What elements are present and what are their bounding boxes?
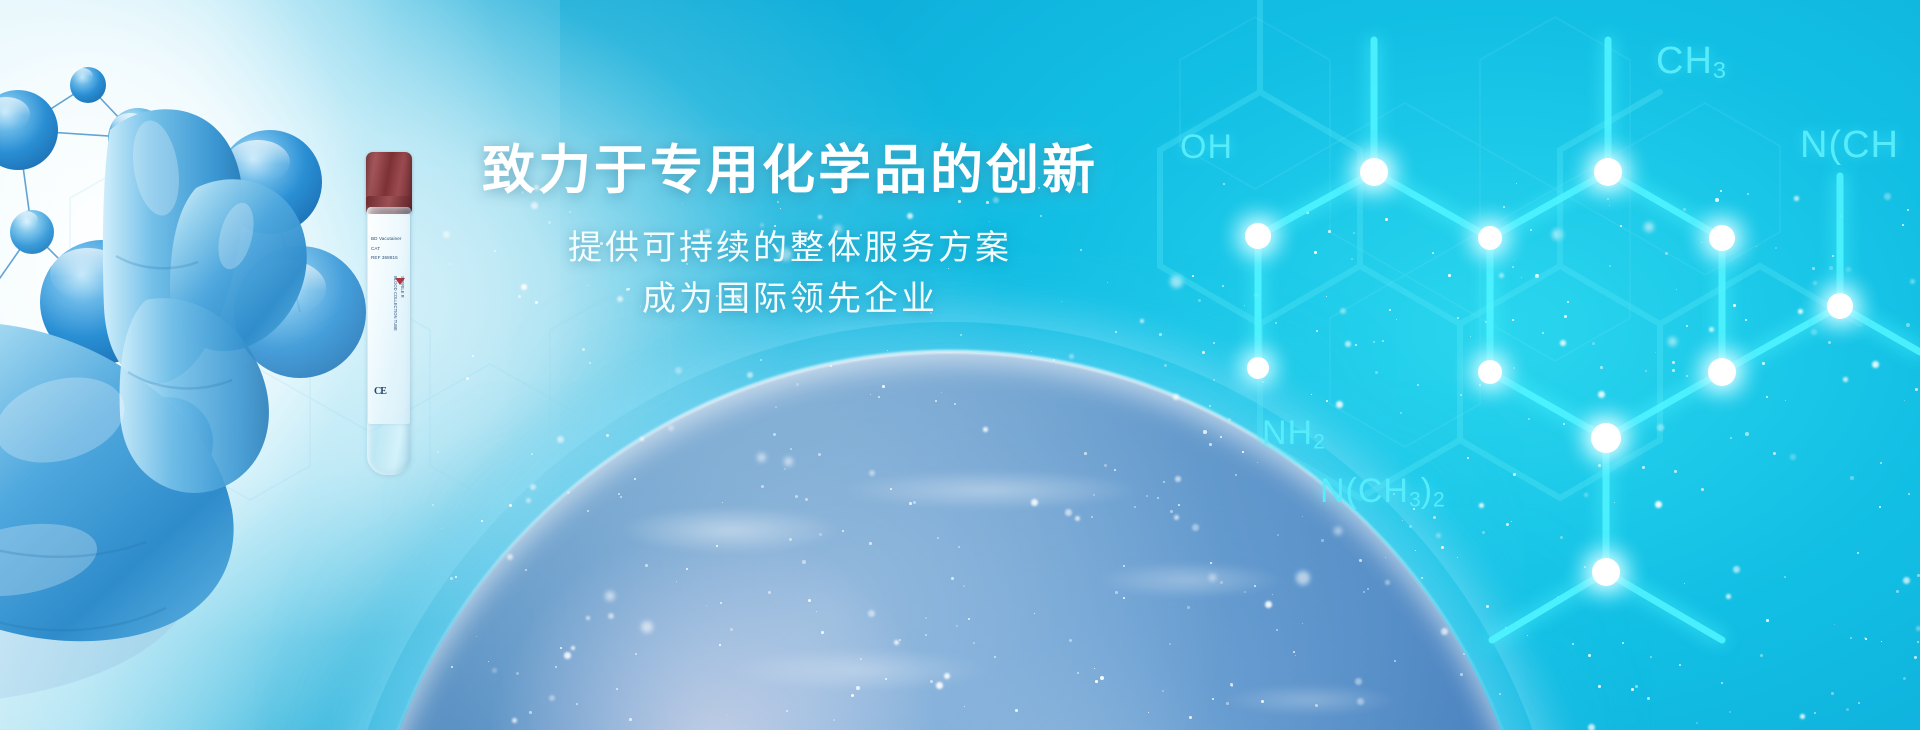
chem-label-nch-top: N(CH bbox=[1800, 124, 1899, 167]
chem-label-nh2: NH2 bbox=[1262, 414, 1325, 455]
chem-label-ch3: CH3 bbox=[1656, 40, 1726, 84]
subtitle-line-2: 成为国际领先企业 bbox=[440, 274, 1140, 326]
chem-label-oh: OH bbox=[1180, 128, 1233, 167]
banner-subtitle: 提供可持续的整体服务方案 成为国际领先企业 bbox=[440, 223, 1140, 326]
tube-side-text-1: BLOOD COLLECTION TUBE bbox=[393, 276, 398, 331]
banner-copy: 致力于专用化学品的创新 提供可持续的整体服务方案 成为国际领先企业 bbox=[440, 140, 1140, 326]
tube-cap-ring bbox=[366, 196, 412, 207]
tube-side-text-2: STERILE R bbox=[400, 276, 405, 298]
hex-molecule-icon bbox=[1100, 0, 1920, 730]
chem-label-nch32: N(CH3)2 bbox=[1320, 472, 1445, 513]
subtitle-line-1: 提供可持续的整体服务方案 bbox=[440, 223, 1140, 275]
tube-brand: BD Vacutainer bbox=[371, 236, 402, 241]
page-title: 致力于专用化学品的创新 bbox=[440, 140, 1140, 203]
hero-banner: BD Vacutainer CAT REF 368815 BLOOD COLLE… bbox=[0, 0, 1920, 730]
tube-ref: REF 368815 bbox=[371, 255, 398, 260]
tube-cat: CAT bbox=[371, 246, 380, 251]
